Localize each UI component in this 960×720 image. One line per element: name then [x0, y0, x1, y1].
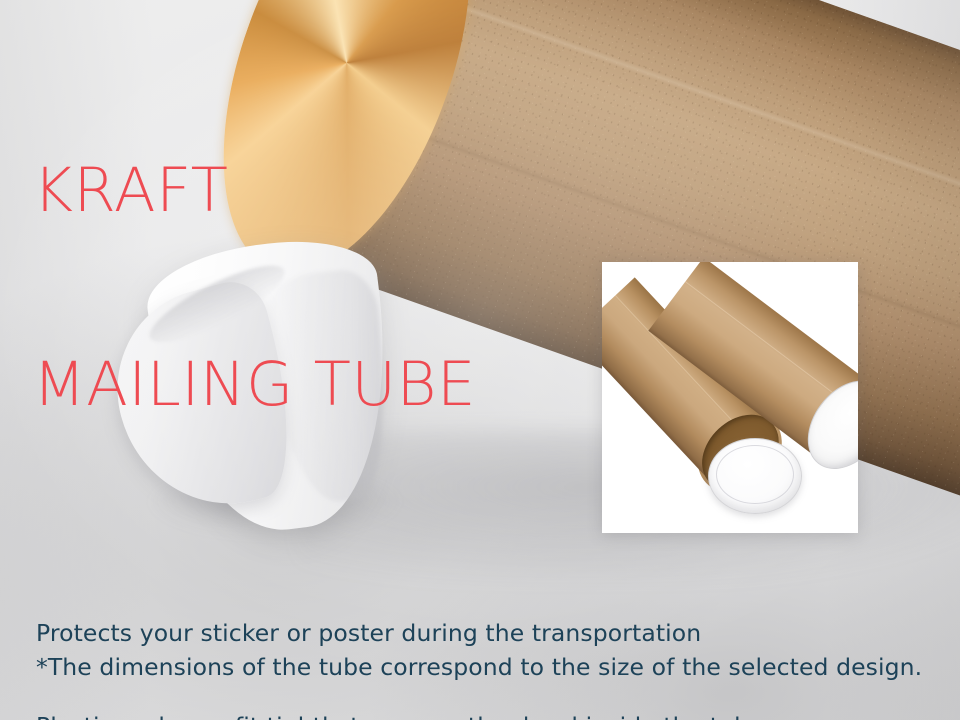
product-banner: KRAFT MAILING TUBE Protects your sticker… [0, 0, 960, 720]
page-title: KRAFT MAILING TUBE [33, 30, 476, 547]
feature-description: Protects your sticker or poster during t… [36, 556, 764, 720]
feature-line-2: Plastic end caps fit tightly to secure t… [36, 711, 764, 720]
product-photo-inset [602, 262, 858, 533]
inset-canvas [602, 262, 858, 533]
footnote-text: *The dimensions of the tube correspond t… [36, 653, 922, 681]
title-line-1: KRAFT [33, 159, 476, 224]
inset-loose-end-cap [708, 438, 802, 514]
title-line-2: MAILING TUBE [33, 353, 476, 418]
feature-line-1: Protects your sticker or poster during t… [36, 618, 764, 649]
